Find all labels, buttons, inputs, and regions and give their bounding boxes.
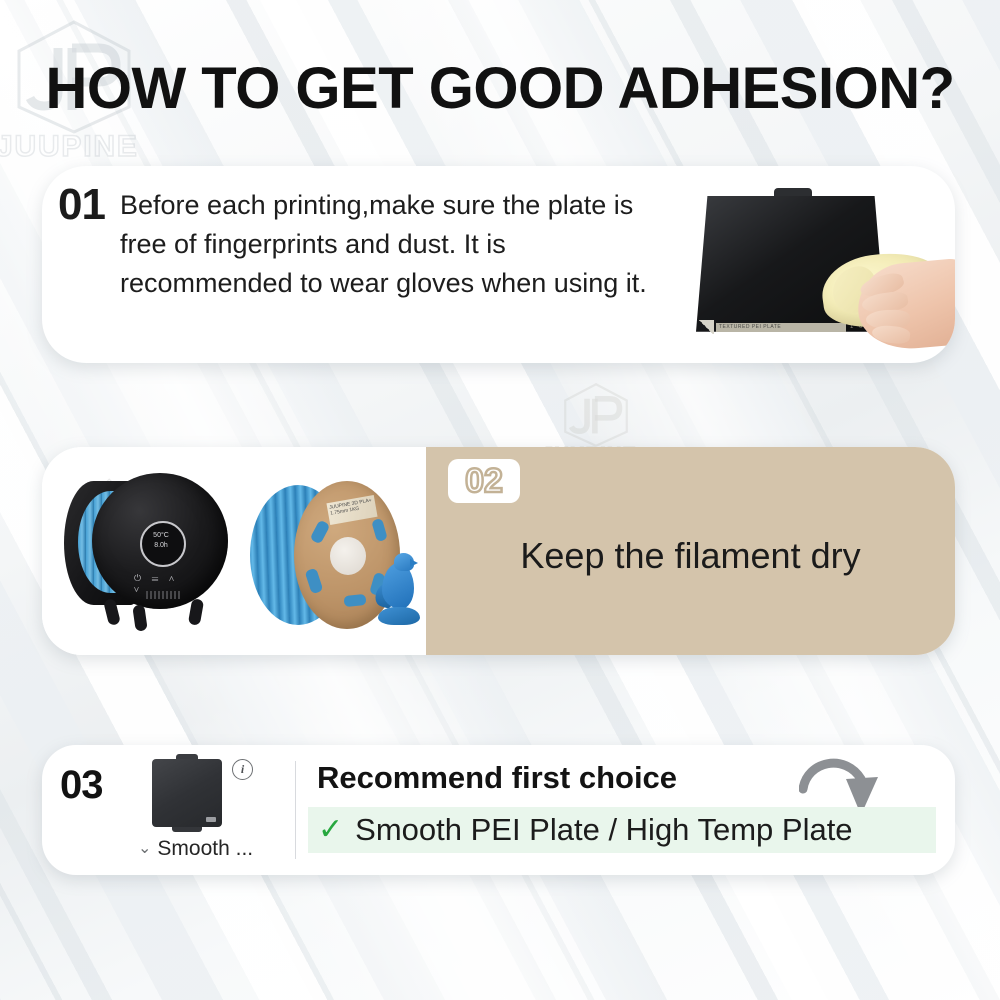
plate-label-text: TEXTURED PEI PLATE [716,323,846,332]
printed-bird-model [376,551,424,631]
step-02-image-panel: ⇪ 50°C 8.0h ⏻ ☰ ∧ ∨ JUUPIN [42,447,426,655]
dryer-display-text: 50°C 8.0h [148,531,174,553]
step-number-badge-02: 02 [448,459,520,503]
step-number-01: 01 [58,180,105,230]
plate-selector-label: Smooth ... [157,837,253,860]
check-icon: ✓ [318,815,343,845]
filament-dryer-device: ⇪ 50°C 8.0h ⏻ ☰ ∧ ∨ [64,473,234,631]
recommended-plate-text: Smooth PEI Plate / High Temp Plate [355,812,852,848]
plate-selector-caption[interactable]: ⌄Smooth ... [138,837,288,861]
build-plate-cleaning-illustration: TEXTURED PEI PLATE 1 0 1 [682,176,955,356]
step-card-02: ⇪ 50°C 8.0h ⏻ ☰ ∧ ∨ JUUPIN [42,447,955,655]
step-number-02: 02 [465,462,503,501]
plate-corner-marker [698,320,714,334]
step-card-01: 01 Before each printing,make sure the pl… [42,166,955,363]
recommend-heading: Recommend first choice [317,760,677,796]
vertical-divider [295,761,296,859]
bird-beak [410,559,418,567]
recommended-plate-row: ✓ Smooth PEI Plate / High Temp Plate [308,807,936,853]
infographic-page: JUUPINE JUUPINE JUUPINE JUUPINE HOW [0,0,1000,1000]
chevron-down-icon: ⌄ [138,838,151,858]
plate-thumbnail-marking [206,817,216,822]
step-text-02: Keep the filament dry [426,535,955,577]
step-card-03: 03 i ⌄Smooth ... Recommend first choice … [42,745,955,875]
bird-base [378,607,420,625]
dryer-vent [146,591,180,599]
info-icon[interactable]: i [232,759,253,780]
dryer-leg [188,598,204,626]
step-02-text-panel: 02 Keep the filament dry [426,447,955,655]
spool-center-hole [330,537,366,575]
step-text-01: Before each printing,make sure the plate… [120,186,660,303]
plate-thumbnail-foot [172,827,202,832]
step-number-03: 03 [60,763,103,808]
page-title: HOW TO GET GOOD ADHESION? [0,55,1000,122]
dryer-leg [132,604,148,631]
